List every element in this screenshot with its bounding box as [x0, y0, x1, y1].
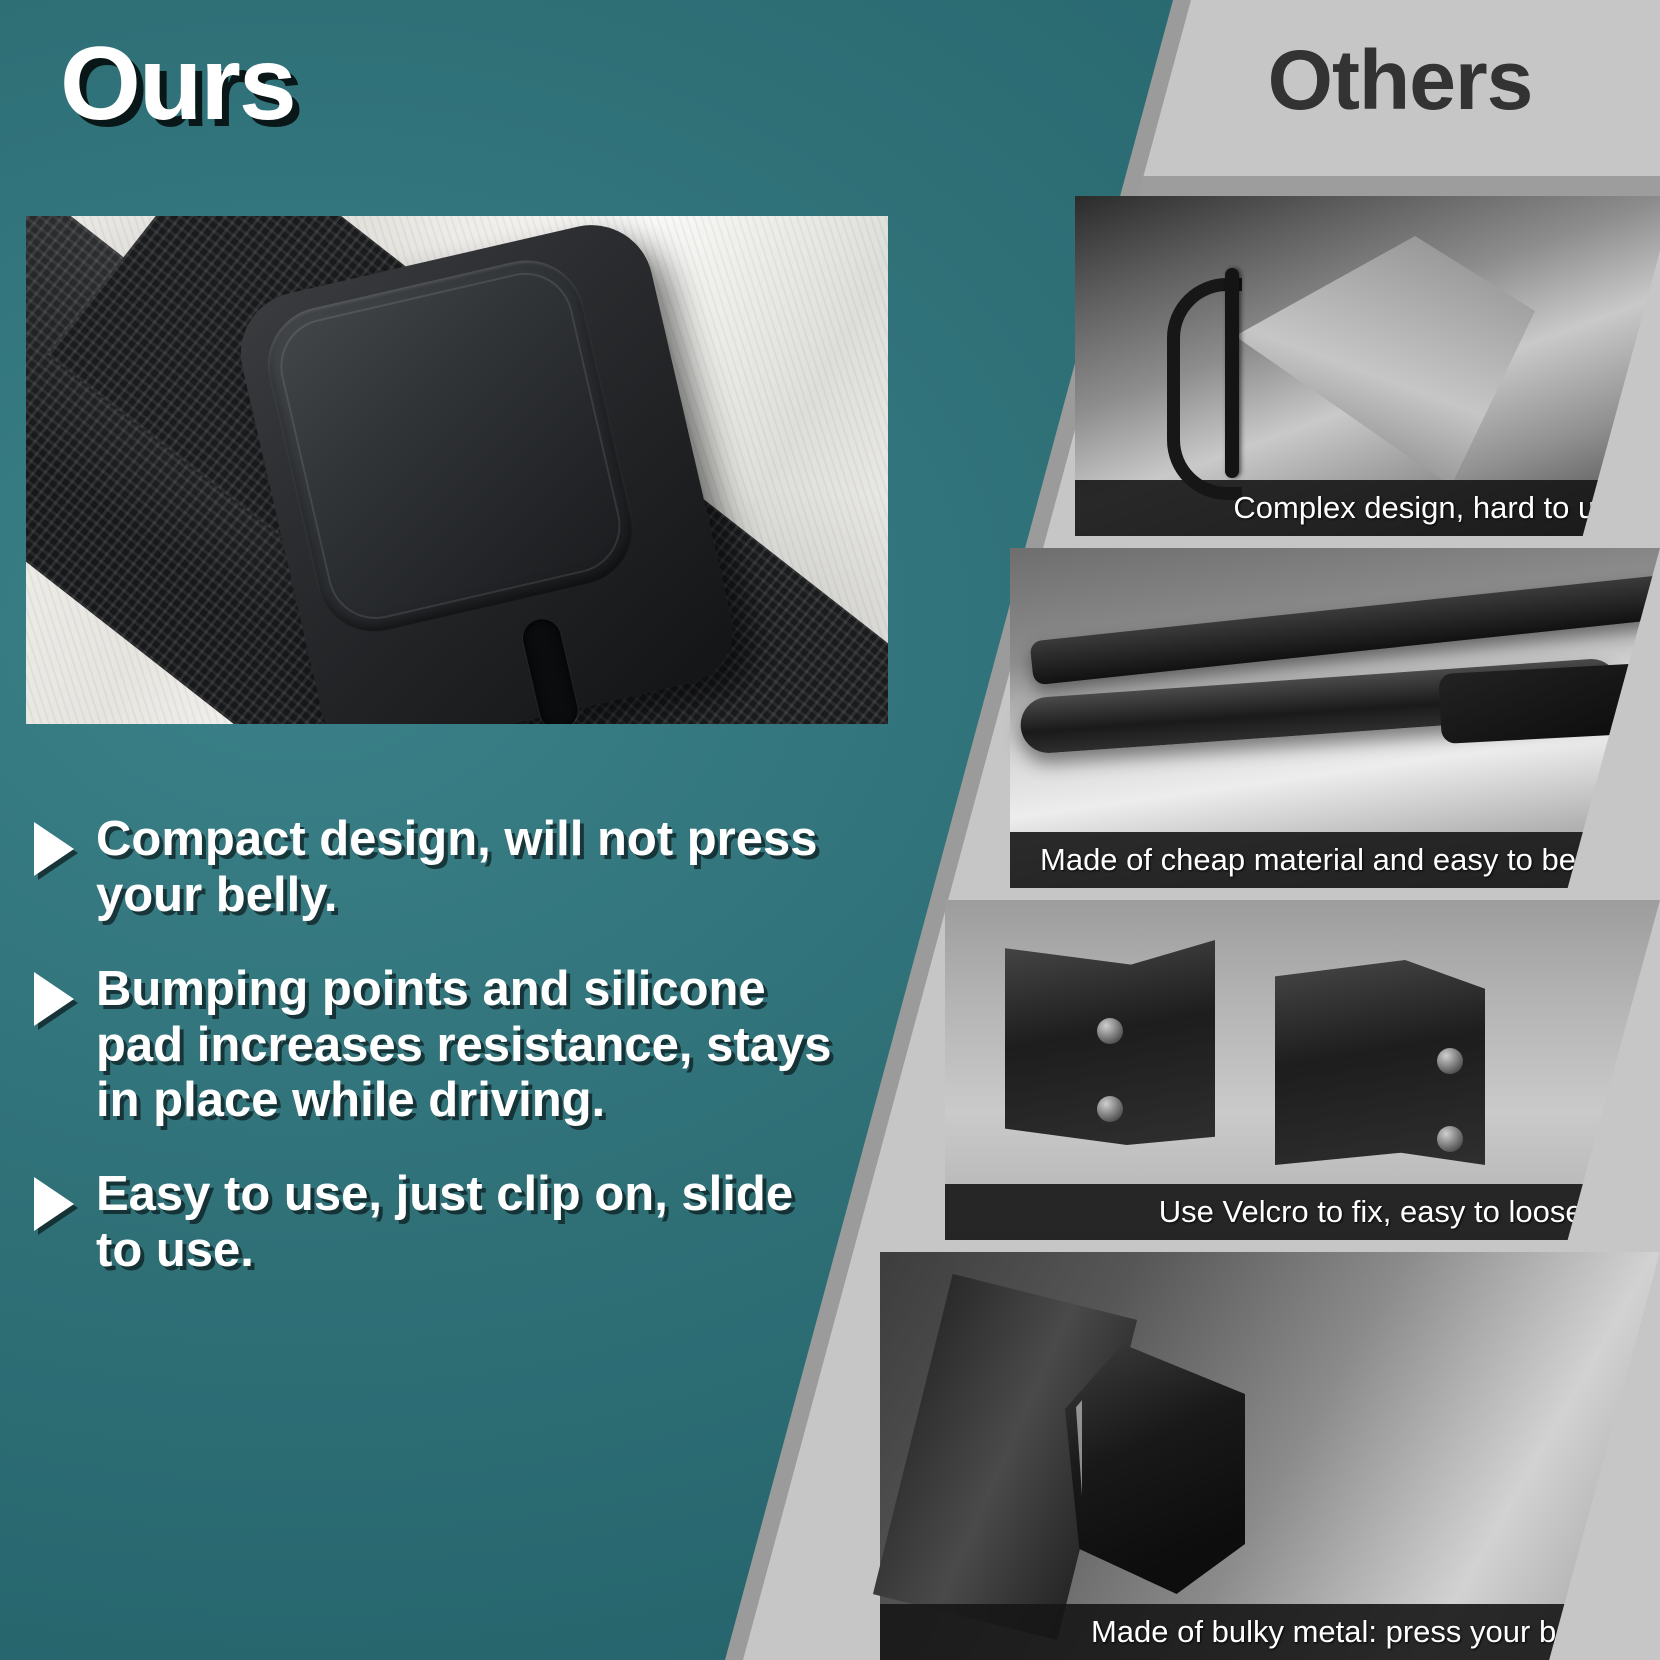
- snap-dot-icon: [1097, 1018, 1123, 1044]
- feature-text: Compact design, will not press your bell…: [96, 812, 834, 924]
- snap-dot-icon: [1097, 1096, 1123, 1122]
- snap-dot-icon: [1437, 1126, 1463, 1152]
- others-card-caption: Use Velcro to fix, easy to loose.: [945, 1184, 1660, 1240]
- triangle-bullet-icon: [34, 1177, 74, 1231]
- comparison-infographic: Others Ours Compact design, will not pre…: [0, 0, 1660, 1660]
- feature-text: Easy to use, just clip on, slide to use.: [96, 1167, 834, 1279]
- seatbelt-clip-slot: [519, 615, 581, 724]
- others-card: Made of cheap material and easy to be da…: [918, 548, 1660, 888]
- others-title: Others: [1160, 38, 1640, 122]
- buckle-pin-shape: [1225, 268, 1239, 478]
- snap-dot-icon: [1437, 1048, 1463, 1074]
- others-card: Complex design, hard to use.: [983, 196, 1660, 536]
- list-item: Compact design, will not press your bell…: [34, 812, 834, 924]
- fabric-wedge-shape: [1235, 236, 1535, 486]
- triangle-bullet-icon: [34, 822, 74, 876]
- others-card-caption: Complex design, hard to use.: [1075, 480, 1660, 536]
- metal-buckle-highlight: [1076, 1352, 1232, 1582]
- list-item: Bumping points and silicone pad increase…: [34, 962, 834, 1130]
- others-card: Use Velcro to fix, easy to loose.: [853, 900, 1660, 1240]
- others-card: Made of bulky metal: press your belly.: [769, 1252, 1660, 1660]
- bulky-metal-buckle-photo: [880, 1252, 1660, 1660]
- triangle-bullet-icon: [34, 972, 74, 1026]
- others-card-caption: Made of bulky metal: press your belly.: [880, 1604, 1660, 1660]
- list-item: Easy to use, just clip on, slide to use.: [34, 1167, 834, 1279]
- feature-text: Bumping points and silicone pad increase…: [96, 962, 834, 1130]
- ours-feature-list: Compact design, will not press your bell…: [34, 812, 834, 1317]
- others-card-caption: Made of cheap material and easy to be da…: [1010, 832, 1660, 888]
- ours-product-photo: [26, 216, 888, 724]
- seatbelt-clip-face: [256, 249, 644, 643]
- ours-title: Ours: [60, 32, 295, 136]
